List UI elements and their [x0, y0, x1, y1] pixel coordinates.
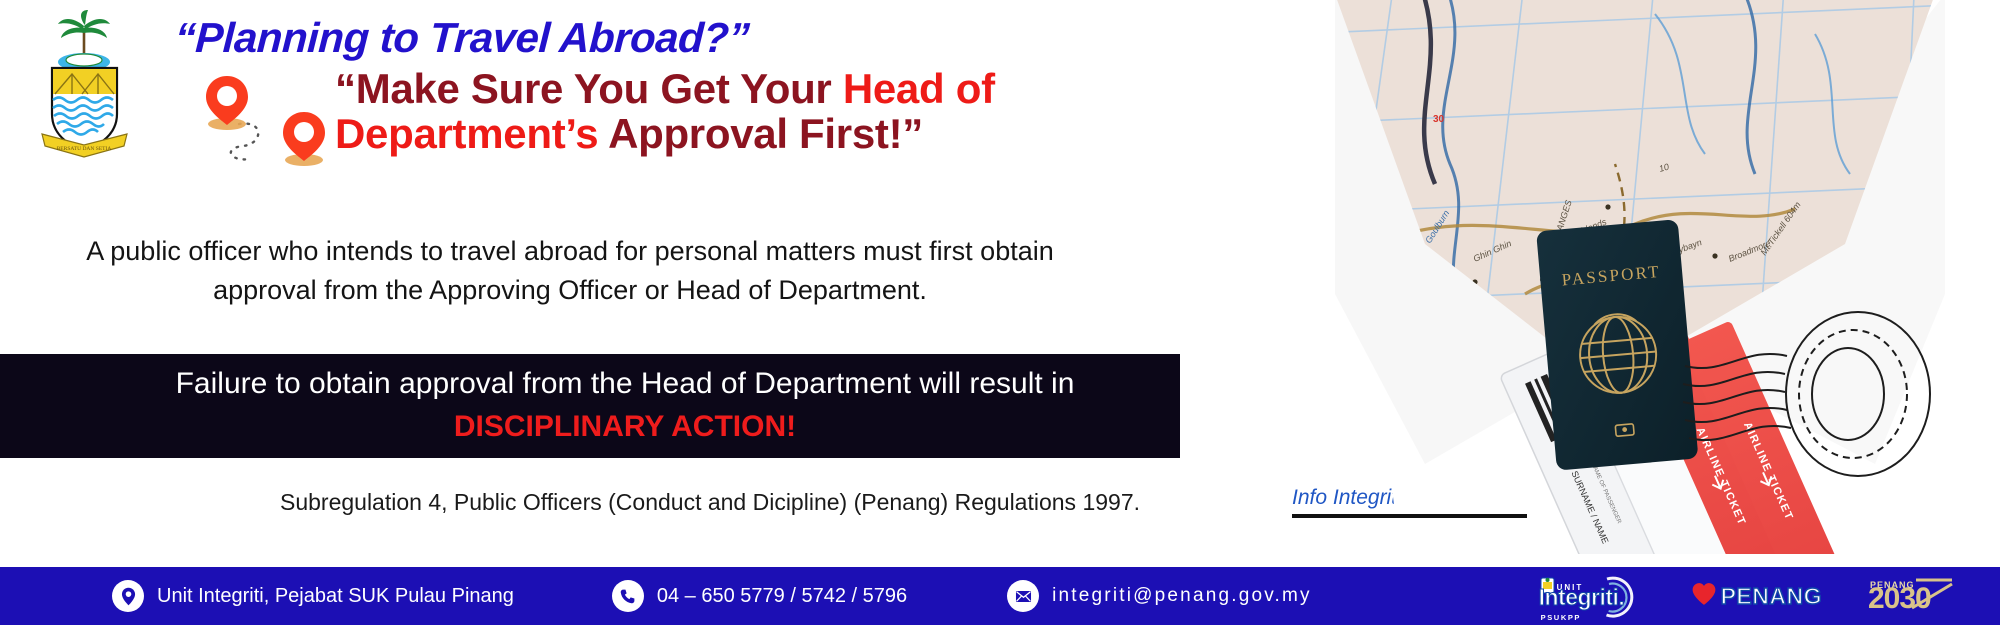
headline-line-2-maroon: “Make Sure You Get Your	[335, 65, 843, 112]
svg-text:30: 30	[1433, 114, 1445, 125]
subregulation-citation: Subregulation 4, Public Officers (Conduc…	[150, 489, 1270, 516]
logo-unit-integriti: UNIT Integriti. PSUKPP	[1535, 573, 1647, 619]
headline-line-2: “Make Sure You Get Your Head of	[335, 66, 1255, 111]
poster-banner: BERSATU DAN SETIA “Planning to Travel Ab…	[0, 0, 2000, 641]
heart-icon	[1691, 582, 1717, 611]
envelope-icon	[1007, 580, 1039, 612]
headline-lines-2-3: “Make Sure You Get Your Head of Departme…	[335, 66, 1255, 157]
intro-paragraph: A public officer who intends to travel a…	[70, 232, 1070, 310]
penang-state-crest-icon: BERSATU DAN SETIA	[32, 10, 137, 160]
logo-penang-2030: PENANG 2030	[1866, 574, 1962, 618]
contact-footer: Unit Integriti, Pejabat SUK Pulau Pinang…	[0, 567, 2000, 625]
passport-booklet: PASSPORT	[1536, 219, 1698, 470]
crest-motto: BERSATU DAN SETIA	[57, 146, 112, 152]
warning-prefix: Failure to obtain approval from the Head…	[176, 367, 1075, 400]
travel-route-graphic	[195, 62, 355, 167]
warning-text: Failure to obtain approval from the Head…	[40, 363, 1140, 448]
logo-love-penang: PENANG	[1691, 582, 1822, 611]
warning-emphasis: DISCIPLINARY ACTION!	[454, 410, 796, 443]
warning-bar: Failure to obtain approval from the Head…	[0, 354, 1180, 458]
headline-line-3: Department’s Approval First!”	[335, 111, 1255, 156]
headline-line-1: “Planning to Travel Abroad?”	[174, 14, 1257, 62]
footer-logos: UNIT Integriti. PSUKPP PENANG	[1535, 573, 1962, 619]
logo-love-penang-word: PENANG	[1721, 583, 1822, 610]
footer-address: Unit Integriti, Pejabat SUK Pulau Pinang	[112, 580, 514, 612]
headline-line-2-red: Head of	[843, 65, 995, 112]
footer-phone-label: 04 – 650 5779 / 5742 / 5796	[657, 585, 907, 608]
footer-email: integriti@penang.gov.my	[1007, 580, 1312, 612]
travel-documents-artwork: Highlands Kuloybayn Goulburn Ghin Ghin S…	[1275, 0, 2000, 554]
footer-address-label: Unit Integriti, Pejabat SUK Pulau Pinang	[157, 585, 514, 608]
location-pin-icon	[112, 580, 144, 612]
phone-icon	[612, 580, 644, 612]
footer-email-label: integriti@penang.gov.my	[1052, 585, 1312, 607]
logo-integriti-sub: PSUKPP	[1541, 613, 1581, 622]
footer-phone: 04 – 650 5779 / 5742 / 5796	[612, 580, 907, 612]
headline-line-3-maroon: Approval First!”	[608, 110, 923, 157]
headline-line-3-red: Department’s	[335, 110, 608, 157]
